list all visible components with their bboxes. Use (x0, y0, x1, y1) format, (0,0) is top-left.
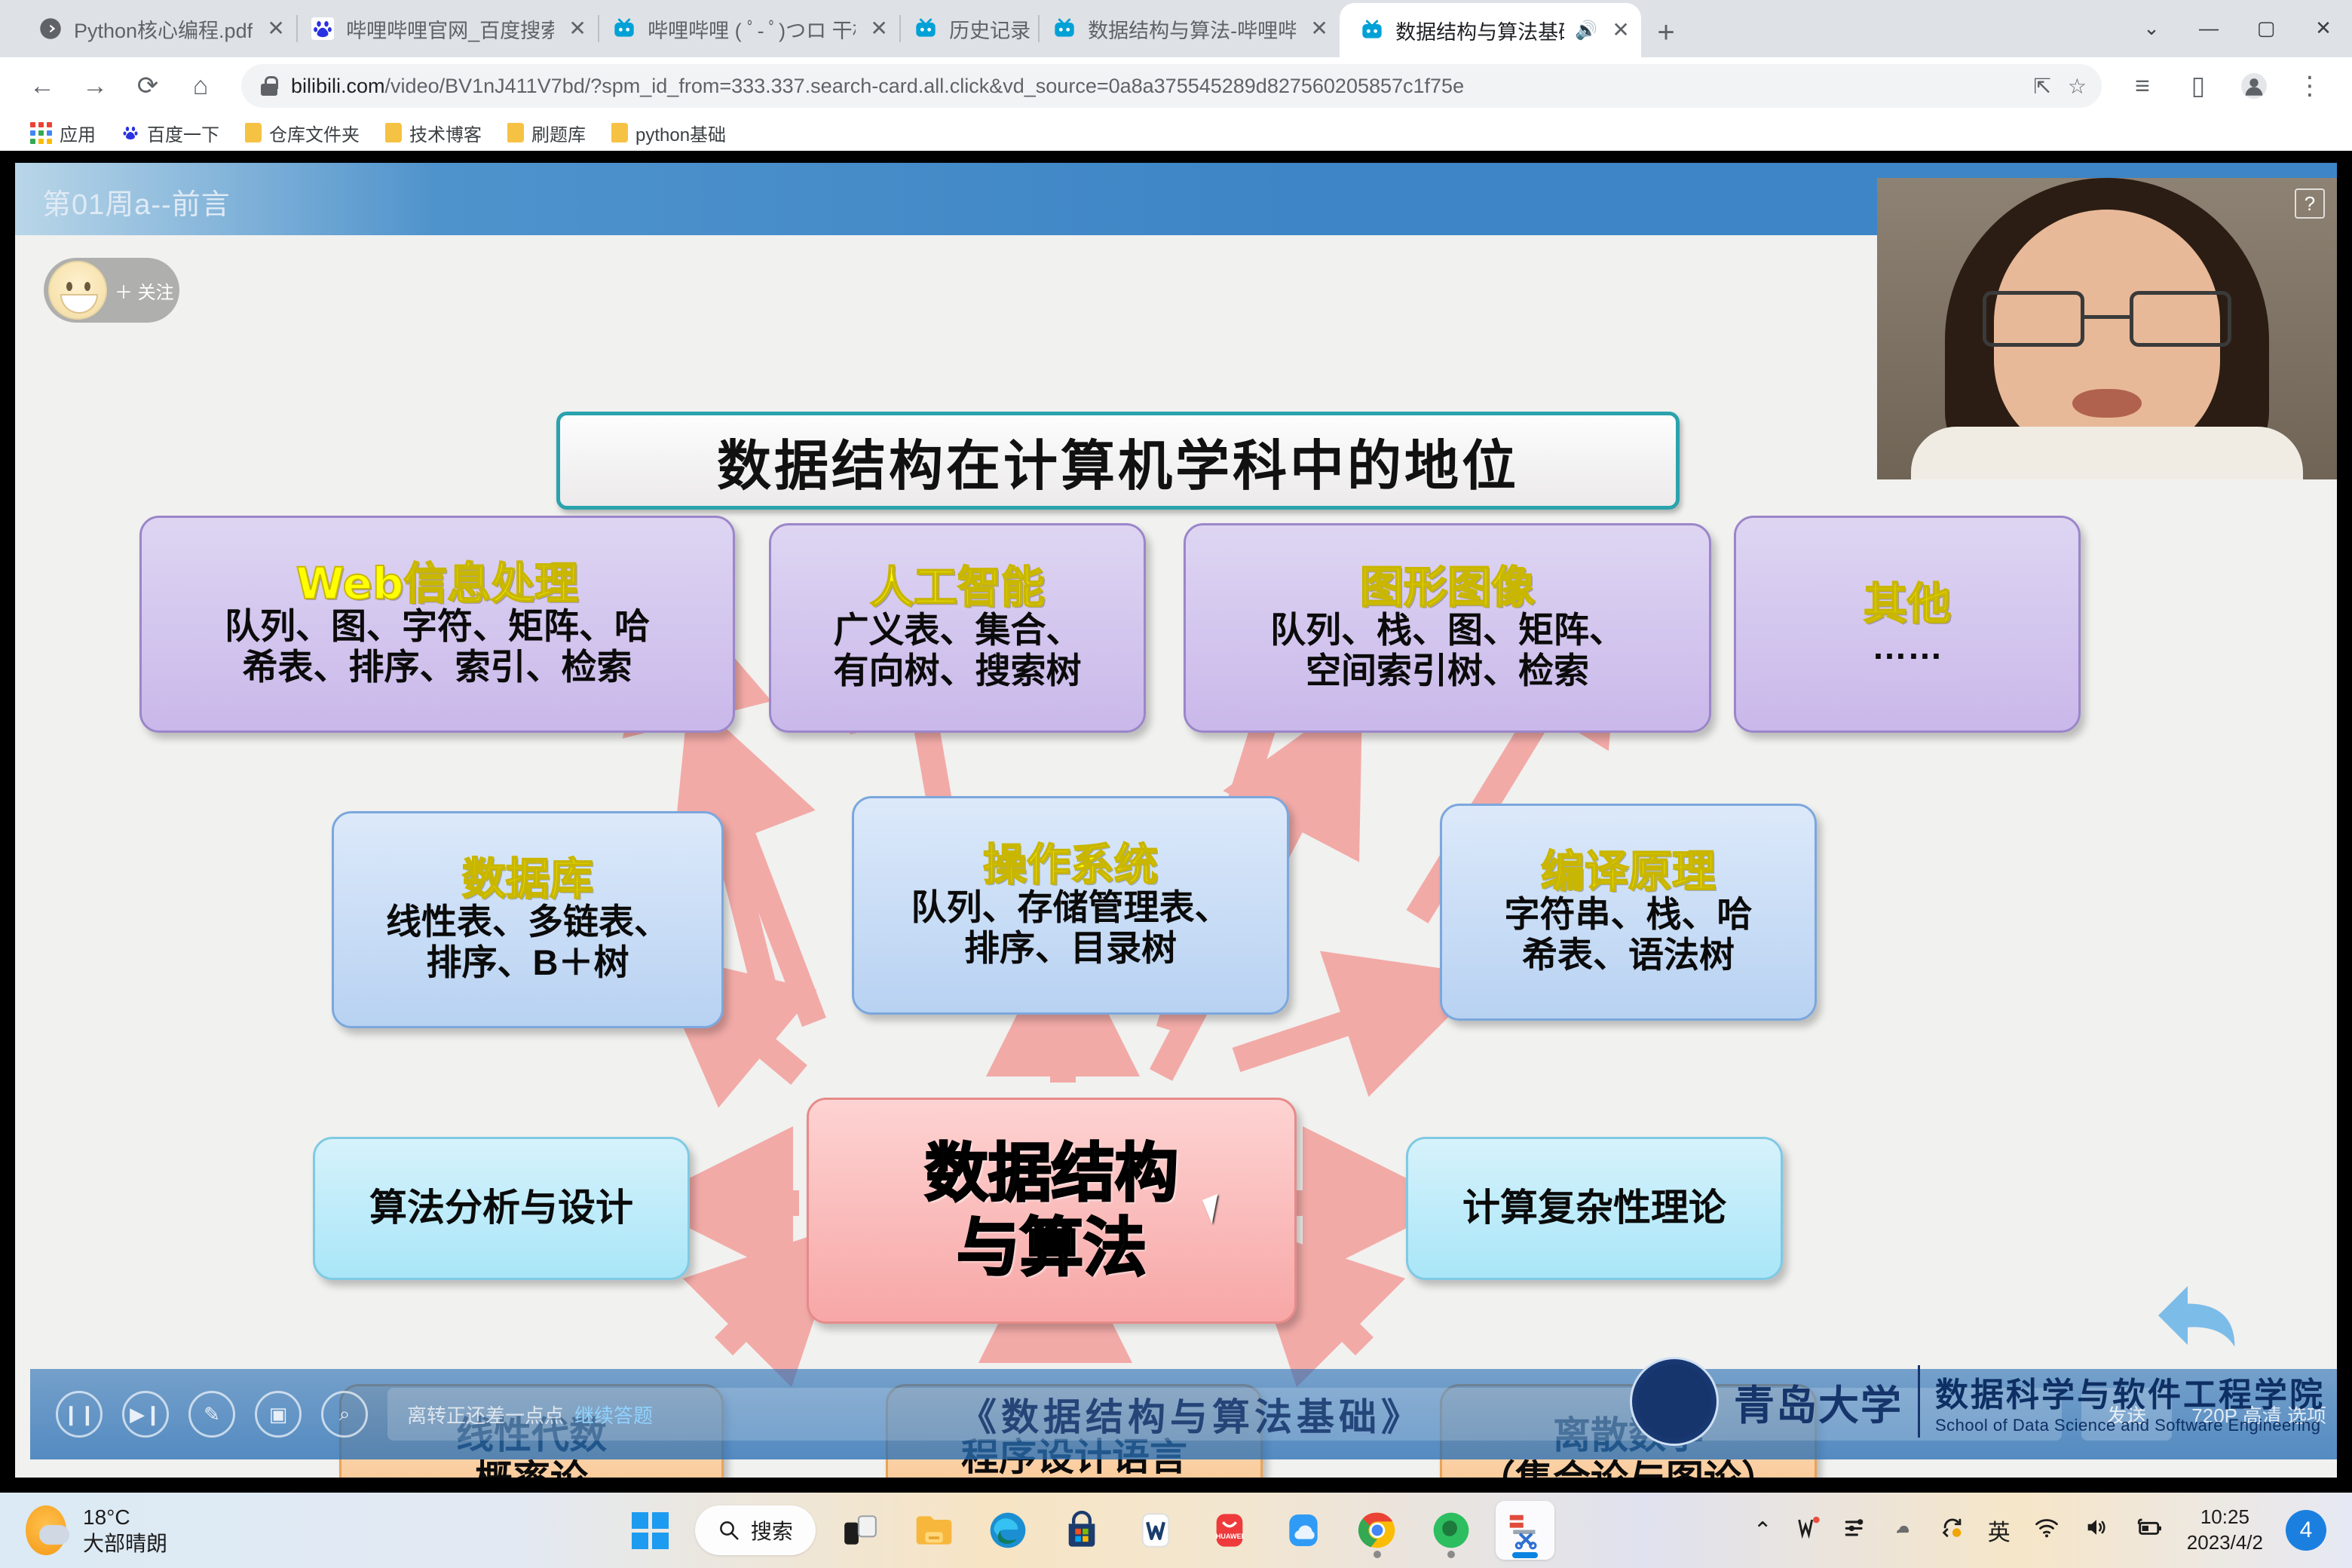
topic-head: 编译原理 (1541, 849, 1716, 895)
theater-icon[interactable]: ▣ (255, 1391, 302, 1438)
center-node-label: 数据结构 与算法 (925, 1136, 1178, 1285)
weather-widget[interactable]: 18°C 大部晴朗 (0, 1504, 422, 1557)
bookmark-folder-2[interactable]: 技术博客 (375, 117, 492, 149)
topic-box-other: 其他 …… (1734, 516, 2081, 733)
webcam-mouth (2072, 389, 2142, 418)
tab-close-button[interactable]: ✕ (565, 18, 590, 39)
topic-head: 其他 (1864, 581, 1951, 627)
chevron-up-icon[interactable]: ⌃ (1753, 1517, 1772, 1544)
bilibili-icon (1052, 16, 1077, 41)
close-window-button[interactable]: ✕ (2295, 0, 2352, 56)
bookmark-apps[interactable]: 应用 (20, 117, 106, 149)
player-control-bar[interactable]: ❙❙ ▶❙ ✎ ▣ ⌕ 离转正还差一点点 继续答题 发送 720P 高清 选项 … (30, 1369, 2337, 1459)
topic-body: 队列、栈、图、矩阵、 空间索引树、检索 (1270, 610, 1625, 691)
topic-body: 队列、图、字符、矩阵、哈 希表、排序、索引、检索 (225, 606, 650, 688)
lecture-slide: 第01周a--前言 ＋ 关注 数据结构在计算机学科中的地位 (15, 163, 2337, 1478)
topic-body: 队列、存储管理表、 排序、目录树 (911, 887, 1230, 969)
desktop-screen: Python核心编程.pdf ✕ 哔哩哔哩官网_百度搜索 ✕ 哔哩哔哩 ( ﾟ-… (0, 0, 2352, 1568)
tab-separator (899, 15, 901, 42)
reading-list-icon[interactable]: ≡ (2118, 62, 2167, 110)
topic-box-algorithm-analysis: 算法分析与设计 (313, 1137, 690, 1280)
omnibox-icons: ⇱ ☆ (2033, 74, 2087, 99)
volume-icon[interactable] (2083, 1514, 2110, 1546)
chrome-icon[interactable] (1348, 1501, 1407, 1560)
weather-text: 18°C 大部晴朗 (83, 1504, 167, 1557)
topic-body: 线性表、多链表、 排序、B＋树 (386, 902, 669, 983)
sun-cloud-icon (26, 1505, 66, 1555)
tab-title: 哔哩哔哩官网_百度搜索 (346, 14, 554, 44)
battery-charging-icon[interactable] (2133, 1514, 2164, 1546)
bookmark-label: 百度一下 (147, 120, 219, 146)
browser-tab[interactable]: 哔哩哔哩 ( ﾟ- ﾟ)つロ 干杯~ ✕ (598, 0, 899, 57)
browser-tab[interactable]: 数据结构与算法-哔哩哔哩_B ✕ (1038, 0, 1340, 57)
university-seal-icon (1630, 1357, 1719, 1446)
school-name-zh: 数据科学与软件工程学院 (1935, 1367, 2325, 1416)
topic-box-compiler: 编译原理 字符串、栈、哈 希表、语法树 (1440, 804, 1817, 1021)
sync-icon[interactable] (1940, 1514, 1965, 1546)
onedrive-tray-icon[interactable] (1891, 1514, 1917, 1546)
tab-close-button[interactable]: ✕ (1608, 20, 1634, 41)
windows-taskbar: 18°C 大部晴朗 搜索 (0, 1493, 2352, 1568)
tab-title: 历史记录 (949, 14, 1031, 44)
tab-title: 哔哩哔哩 ( ﾟ- ﾟ)つロ 干杯~ (648, 14, 856, 44)
topic-body: 计算复杂性理论 (1462, 1187, 1726, 1230)
tab-title: Python核心编程.pdf (74, 14, 253, 44)
help-question-icon[interactable]: ? (2295, 188, 2325, 219)
search-icon (718, 1519, 740, 1542)
topic-box-ai: 人工智能 广义表、集合、 有向树、搜索树 (769, 523, 1146, 733)
tab-title: 数据结构与算法-哔哩哔哩_B (1088, 14, 1296, 44)
apps-grid-icon (30, 122, 52, 144)
taskbar-clock[interactable]: 10:25 2023/4/2 (2187, 1505, 2263, 1556)
browser-tab[interactable]: 哔哩哔哩官网_百度搜索 ✕ (296, 0, 598, 57)
wps-tray-icon[interactable] (1795, 1514, 1821, 1546)
bilibili-icon (611, 16, 637, 41)
bilibili-icon (913, 16, 939, 41)
topic-body: 算法分析与设计 (369, 1187, 633, 1230)
sidebar-icon[interactable]: ▯ (2174, 62, 2222, 110)
folder-icon (611, 123, 628, 142)
window-controls: ⌄ — ▢ ✕ (2123, 0, 2352, 56)
browser-tab[interactable]: 历史记录 (899, 0, 1038, 57)
toolbar-icons: ≡ ▯ ⋮ (2118, 62, 2334, 110)
system-tray: ⌃ 英 10:25 (1753, 1505, 2352, 1556)
topic-head: 人工智能 (870, 565, 1045, 611)
bookmark-label: 仓库文件夹 (269, 120, 360, 146)
edge-icon[interactable] (978, 1501, 1037, 1560)
folder-icon (245, 123, 262, 142)
evernote-icon[interactable] (1422, 1501, 1481, 1560)
address-bar-url: bilibili.com/video/BV1nJ411V7bd/?spm_id_… (291, 75, 1464, 98)
tab-audio-icon[interactable]: 🔊 (1575, 20, 1597, 41)
address-bar[interactable]: bilibili.com/video/BV1nJ411V7bd/?spm_id_… (241, 64, 2102, 108)
glasses-icon (1983, 291, 2231, 351)
slide-title: 数据结构在计算机学科中的地位 (717, 421, 1519, 501)
topic-head: 数据库 (462, 856, 593, 902)
follow-button[interactable]: ＋ 关注 (115, 277, 174, 304)
school-name-en: School of Data Science and Software Engi… (1935, 1416, 2325, 1435)
reload-button[interactable]: ⟳ (124, 62, 172, 110)
ime-indicator[interactable]: 英 (1988, 1514, 2011, 1547)
tab-separator (598, 15, 599, 42)
tab-strip: Python核心编程.pdf ✕ 哔哩哔哩官网_百度搜索 ✕ 哔哩哔哩 ( ﾟ-… (0, 0, 2352, 57)
profile-avatar-icon[interactable] (2230, 62, 2278, 110)
forward-button[interactable]: → (71, 62, 119, 110)
secure-lock-icon[interactable] (261, 76, 277, 96)
settings-tray-icon[interactable] (1843, 1514, 1869, 1546)
baidu-icon (121, 124, 139, 142)
windows-start-icon[interactable] (621, 1501, 680, 1560)
back-button[interactable]: ← (18, 62, 66, 110)
taskbar-apps: 搜索 HUAWEI (422, 1501, 1753, 1560)
topic-head: 操作系统 (983, 842, 1158, 888)
topic-box-complexity-theory: 计算复杂性理论 (1406, 1137, 1783, 1280)
logo-divider (1918, 1365, 1920, 1438)
clock-time: 10:25 (2187, 1505, 2263, 1530)
slide-week-label: 第01周a--前言 (42, 181, 231, 222)
university-name-cn: 青岛大学 (1734, 1372, 1903, 1432)
danmaku-toggle-icon[interactable]: ✎ (188, 1391, 235, 1438)
course-watermark: 《数据结构与算法基础》 (959, 1387, 1423, 1441)
weather-temp: 18°C (83, 1504, 167, 1530)
danmaku-placeholder: 离转正还差一点点 (407, 1401, 564, 1429)
clock-date: 2023/4/2 (2187, 1530, 2263, 1556)
folder-icon (385, 123, 402, 142)
url-host: bilibili.com (291, 75, 385, 97)
tab-title: 数据结构与算法基础（ (1395, 16, 1564, 45)
svg-text:HUAWEI: HUAWEI (1216, 1533, 1243, 1540)
uploader-avatar-icon[interactable] (48, 261, 107, 320)
share-icon[interactable]: ⇱ (2033, 74, 2050, 99)
bookmark-folder-4[interactable]: python基础 (601, 117, 737, 149)
university-logo: 青岛大学 数据科学与软件工程学院 School of Data Science … (1630, 1357, 2325, 1446)
webcam-body (1911, 427, 2303, 479)
search-icon[interactable]: ⌕ (321, 1391, 368, 1438)
microsoft-store-icon[interactable] (1052, 1501, 1111, 1560)
topic-box-web: Web信息处理 队列、图、字符、矩阵、哈 希表、排序、索引、检索 (139, 516, 735, 733)
notification-badge[interactable]: 4 (2286, 1510, 2326, 1551)
danmaku-link[interactable]: 继续答题 (574, 1401, 653, 1429)
bookmark-star-icon[interactable]: ☆ (2068, 74, 2087, 99)
instructor-webcam[interactable]: ? (1877, 178, 2337, 479)
topic-box-graphics: 图形图像 队列、栈、图、矩阵、 空间索引树、检索 (1184, 523, 1711, 733)
taskbar-search[interactable]: 搜索 (695, 1505, 816, 1555)
bookmark-label: 技术博客 (409, 120, 482, 146)
video-player[interactable]: 第01周a--前言 ＋ 关注 数据结构在计算机学科中的地位 (0, 151, 2352, 1493)
topic-box-os: 操作系统 队列、存储管理表、 排序、目录树 (852, 796, 1289, 1015)
pdf-icon (38, 16, 63, 41)
bookmark-folder-3[interactable]: 刷题库 (497, 117, 596, 149)
tab-search-icon[interactable]: ⌄ (2123, 0, 2180, 56)
tab-separator (296, 15, 298, 42)
home-button[interactable]: ⌂ (176, 62, 225, 110)
browser-toolbar: ← → ⟳ ⌂ bilibili.com/video/BV1nJ411V7bd/… (0, 57, 2352, 115)
topic-body: 广义表、集合、 有向树、搜索树 (834, 610, 1082, 691)
baidu-icon (310, 16, 335, 41)
school-name-block: 数据科学与软件工程学院 School of Data Science and S… (1935, 1367, 2325, 1435)
wps-icon[interactable] (1126, 1501, 1185, 1560)
tab-separator (1038, 15, 1040, 42)
topic-body: …… (1872, 626, 1943, 667)
minimize-button[interactable]: — (2180, 0, 2237, 56)
onedrive-icon[interactable] (1274, 1501, 1333, 1560)
topic-body: 字符串、栈、哈 希表、语法树 (1505, 894, 1753, 975)
browser-chrome: Python核心编程.pdf ✕ 哔哩哔哩官网_百度搜索 ✕ 哔哩哔哩 ( ﾟ-… (0, 0, 2352, 151)
task-view-icon[interactable] (831, 1501, 890, 1560)
bilibili-icon (1359, 17, 1385, 43)
back-arrow-icon[interactable] (2148, 1274, 2246, 1357)
topic-head: Web信息处理 (296, 561, 579, 607)
uploader-follow-widget[interactable]: ＋ 关注 (44, 258, 179, 323)
bookmark-label: 刷题库 (531, 120, 586, 146)
tab-close-button[interactable]: ✕ (866, 18, 892, 39)
browser-tab-active[interactable]: 数据结构与算法基础（ 🔊 ✕ (1340, 3, 1641, 57)
tab-close-button[interactable]: ✕ (1306, 18, 1332, 39)
topic-box-database: 数据库 线性表、多链表、 排序、B＋树 (332, 811, 724, 1028)
chrome-menu-icon[interactable]: ⋮ (2286, 62, 2334, 110)
tab-close-button[interactable]: ✕ (263, 18, 289, 39)
maximize-button[interactable]: ▢ (2237, 0, 2295, 56)
new-tab-button[interactable]: + (1641, 8, 1691, 57)
browser-tab[interactable]: Python核心编程.pdf ✕ (24, 0, 296, 57)
folder-icon (507, 123, 524, 142)
next-icon[interactable]: ▶❙ (122, 1391, 169, 1438)
bookmark-baidu[interactable]: 百度一下 (111, 117, 230, 149)
slide-title-box: 数据结构在计算机学科中的地位 (556, 412, 1680, 510)
bookmark-label: 应用 (60, 120, 96, 146)
taskbar-search-label: 搜索 (751, 1515, 793, 1545)
file-explorer-icon[interactable] (905, 1501, 963, 1560)
bookmark-label: python基础 (635, 120, 726, 146)
wifi-icon[interactable] (2033, 1514, 2060, 1546)
snipping-tool-icon[interactable] (1496, 1501, 1554, 1560)
huawei-icon[interactable]: HUAWEI (1200, 1501, 1259, 1560)
bookmarks-bar: 应用 百度一下 仓库文件夹 技术博客 刷题库 python基础 (0, 115, 2352, 151)
bookmark-folder-1[interactable]: 仓库文件夹 (234, 117, 370, 149)
url-path: /video/BV1nJ411V7bd/?spm_id_from=333.337… (385, 75, 1465, 97)
pause-icon[interactable]: ❙❙ (56, 1391, 103, 1438)
topic-head: 图形图像 (1360, 565, 1535, 611)
weather-desc: 大部晴朗 (83, 1530, 167, 1557)
